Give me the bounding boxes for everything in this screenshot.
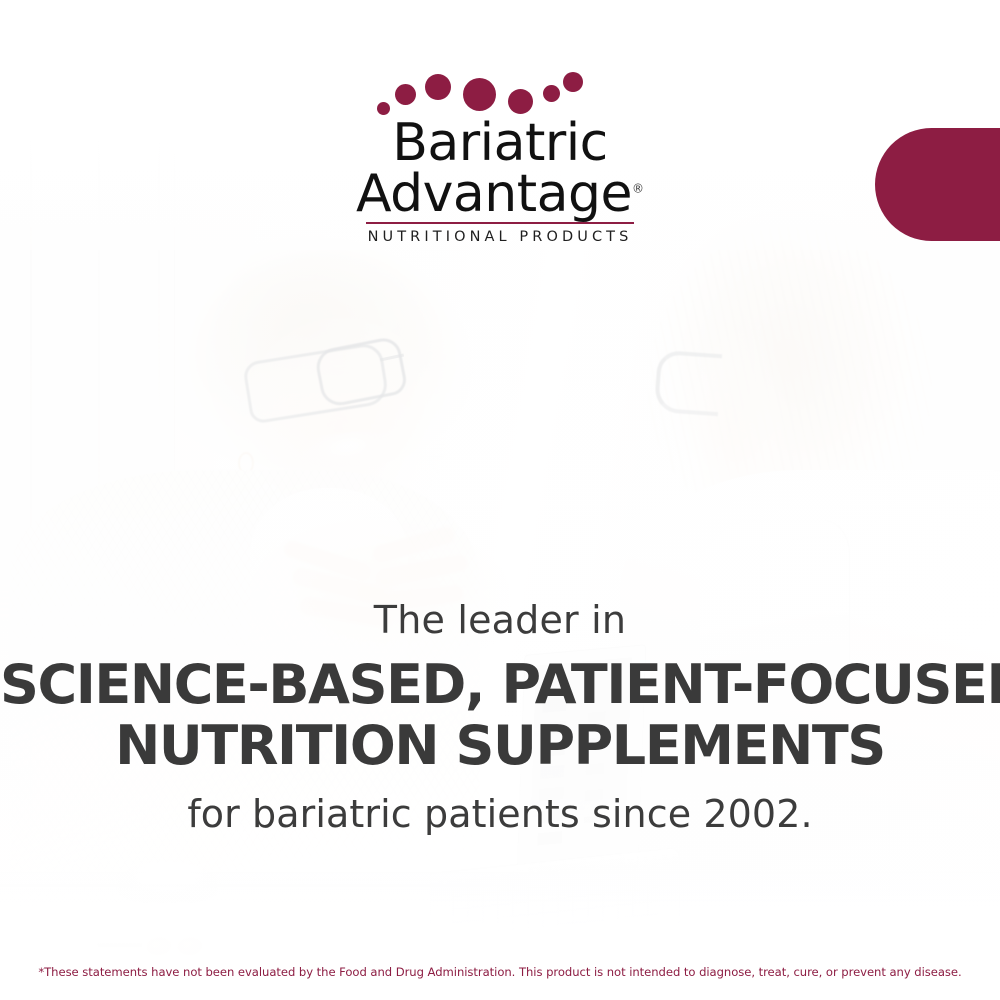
photo-table-edge-highlight: [0, 884, 700, 887]
fda-disclaimer: *These statements have not been evaluate…: [0, 965, 1000, 979]
dot-5-icon: [508, 89, 533, 114]
logo-dot-cluster-icon: [369, 72, 631, 124]
logo-wordmark-line2-text: Advantage: [356, 164, 632, 224]
dot-7-icon: [563, 72, 583, 92]
headline-eyebrow: The leader in: [0, 600, 1000, 642]
dot-6-icon: [543, 85, 560, 102]
dot-3-icon: [425, 74, 451, 100]
dot-2-icon: [395, 84, 416, 105]
headline-block: The leader in SCIENCE-BASED, PATIENT-FOC…: [0, 600, 1000, 836]
registered-trademark-icon: ®: [632, 182, 644, 196]
brand-logo: Bariatric Advantage® NUTRITIONAL PRODUCT…: [0, 72, 1000, 245]
photo-cup: [120, 862, 216, 902]
dot-1-icon: [377, 102, 390, 115]
headline-line-1: SCIENCE-BASED, PATIENT-FOCUSED: [0, 653, 1000, 716]
promotional-banner: Bariatric Advantage® NUTRITIONAL PRODUCT…: [0, 0, 1000, 1000]
logo-wordmark-line1: Bariatric: [392, 118, 608, 169]
headline-line-2: NUTRITION SUPPLEMENTS: [0, 715, 1000, 776]
headline-main: SCIENCE-BASED, PATIENT-FOCUSED NUTRITION…: [0, 654, 1000, 776]
headline-subline: for bariatric patients since 2002.: [0, 792, 1000, 836]
logo-wordmark-line2: Advantage®: [356, 169, 644, 220]
dot-4-icon: [463, 78, 496, 111]
photo-clinician-eyeglasses: [654, 350, 722, 416]
photo-table-object: [98, 944, 142, 947]
logo-tagline: NUTRITIONAL PRODUCTS: [368, 229, 633, 245]
